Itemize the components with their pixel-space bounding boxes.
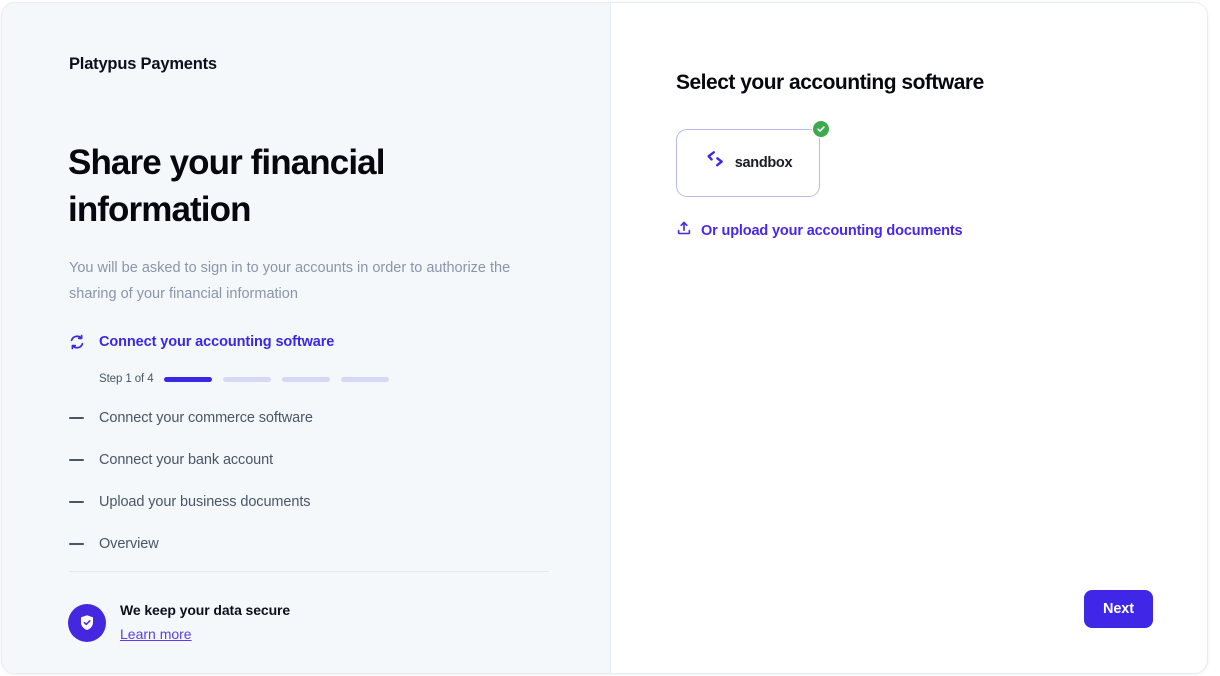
step-label: Connect your bank account (99, 452, 273, 468)
onboarding-card: Platypus Payments Share your financial i… (1, 2, 1208, 674)
dash-icon (69, 501, 91, 503)
data-security-notice: We keep your data secure Learn more (68, 601, 290, 644)
dash-icon (69, 417, 91, 419)
provider-card-sandbox[interactable]: sandbox (676, 129, 820, 197)
security-title: We keep your data secure (120, 601, 290, 619)
upload-icon (676, 220, 692, 241)
step-item-connect-bank[interactable]: Connect your bank account (69, 449, 559, 471)
progress-segment-1 (164, 377, 212, 382)
page-headline: Share your financial information (68, 139, 498, 233)
left-panel: Platypus Payments Share your financial i… (2, 3, 611, 673)
progress-segment-3 (282, 377, 330, 382)
panel-title: Select your accounting software (676, 71, 984, 95)
sandbox-chevrons-icon (704, 150, 728, 177)
step-label: Upload your business documents (99, 494, 310, 510)
check-circle-icon (812, 120, 830, 138)
step-label: Connect your accounting software (99, 334, 334, 350)
step-item-upload-documents[interactable]: Upload your business documents (69, 491, 559, 513)
section-divider (69, 571, 549, 572)
step-progress-label: Step 1 of 4 (99, 373, 154, 385)
step-item-overview[interactable]: Overview (69, 533, 559, 555)
step-list: Connect your accounting software Step 1 … (69, 331, 559, 555)
progress-segment-2 (223, 377, 271, 382)
step-item-connect-commerce[interactable]: Connect your commerce software (69, 407, 559, 429)
provider-list: sandbox (676, 129, 820, 197)
dash-icon (69, 459, 91, 461)
step-progress: Step 1 of 4 (99, 373, 559, 385)
shield-check-icon (68, 604, 106, 642)
dash-icon (69, 543, 91, 545)
upload-link-label: Or upload your accounting documents (701, 223, 962, 239)
step-item-connect-accounting[interactable]: Connect your accounting software (69, 331, 559, 353)
brand-title: Platypus Payments (69, 55, 217, 74)
learn-more-link[interactable]: Learn more (120, 625, 192, 643)
step-label: Overview (99, 536, 159, 552)
sync-icon (69, 334, 91, 350)
upload-documents-link[interactable]: Or upload your accounting documents (676, 220, 962, 241)
right-panel: Select your accounting software sandbox (611, 3, 1207, 673)
progress-segment-4 (341, 377, 389, 382)
step-label: Connect your commerce software (99, 410, 313, 426)
provider-name: sandbox (735, 155, 793, 171)
next-button[interactable]: Next (1084, 590, 1153, 628)
page-subheadline: You will be asked to sign in to your acc… (69, 255, 559, 307)
